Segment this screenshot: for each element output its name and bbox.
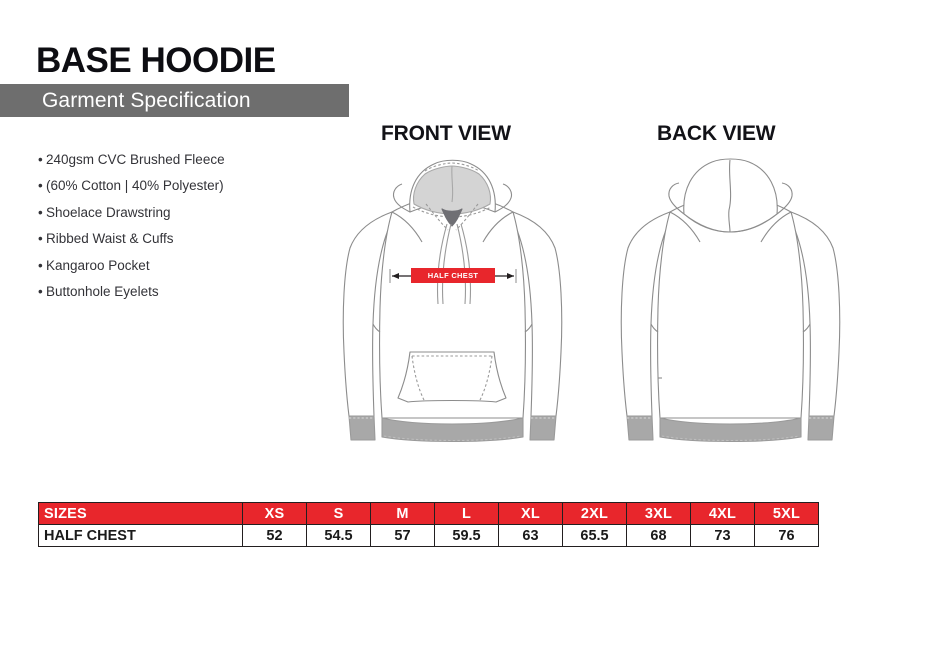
list-item: •240gsm CVC Brushed Fleece bbox=[38, 147, 338, 173]
column-header-sizes: SIZES bbox=[39, 503, 243, 525]
page-title: BASE HOODIE bbox=[36, 40, 276, 82]
feature-list: •240gsm CVC Brushed Fleece •(60% Cotton … bbox=[38, 147, 338, 305]
feature-text: Shoelace Drawstring bbox=[46, 205, 171, 220]
column-header-size: 5XL bbox=[755, 503, 819, 525]
bullet-icon: • bbox=[38, 279, 46, 305]
measurement-cell: 57 bbox=[371, 525, 435, 547]
measurement-cell: 54.5 bbox=[307, 525, 371, 547]
hoodie-front-illustration bbox=[330, 152, 575, 447]
hoodie-back-illustration bbox=[608, 152, 853, 447]
column-header-size: S bbox=[307, 503, 371, 525]
column-header-size: 4XL bbox=[691, 503, 755, 525]
column-header-size: M bbox=[371, 503, 435, 525]
feature-text: Buttonhole Eyelets bbox=[46, 284, 159, 299]
column-header-size: L bbox=[435, 503, 499, 525]
feature-text: (60% Cotton | 40% Polyester) bbox=[46, 178, 224, 193]
measurement-cell: 59.5 bbox=[435, 525, 499, 547]
half-chest-measurement-callout: HALF CHEST bbox=[388, 268, 518, 284]
bullet-icon: • bbox=[38, 253, 46, 279]
back-view-heading: BACK VIEW bbox=[657, 122, 775, 146]
feature-text: Kangaroo Pocket bbox=[46, 258, 150, 273]
feature-text: 240gsm CVC Brushed Fleece bbox=[46, 152, 225, 167]
garment-specification-banner: Garment Specification bbox=[0, 84, 349, 117]
half-chest-label: HALF CHEST bbox=[411, 268, 495, 283]
measurement-cell: 68 bbox=[627, 525, 691, 547]
bullet-icon: • bbox=[38, 147, 46, 173]
feature-text: Ribbed Waist & Cuffs bbox=[46, 231, 174, 246]
list-item: •Buttonhole Eyelets bbox=[38, 279, 338, 305]
table-header-row: SIZES XS S M L XL 2XL 3XL 4XL 5XL bbox=[39, 503, 819, 525]
row-label-half-chest: HALF CHEST bbox=[39, 525, 243, 547]
column-header-size: 3XL bbox=[627, 503, 691, 525]
list-item: •Shoelace Drawstring bbox=[38, 200, 338, 226]
size-chart-table: SIZES XS S M L XL 2XL 3XL 4XL 5XL HALF C… bbox=[38, 502, 819, 547]
measurement-cell: 73 bbox=[691, 525, 755, 547]
list-item: •(60% Cotton | 40% Polyester) bbox=[38, 173, 338, 199]
front-view-heading: FRONT VIEW bbox=[381, 122, 511, 146]
list-item: •Ribbed Waist & Cuffs bbox=[38, 226, 338, 252]
bullet-icon: • bbox=[38, 226, 46, 252]
list-item: •Kangaroo Pocket bbox=[38, 253, 338, 279]
column-header-size: XL bbox=[499, 503, 563, 525]
measurement-cell: 65.5 bbox=[563, 525, 627, 547]
measurement-cell: 63 bbox=[499, 525, 563, 547]
bullet-icon: • bbox=[38, 173, 46, 199]
measurement-cell: 76 bbox=[755, 525, 819, 547]
table-row: HALF CHEST 52 54.5 57 59.5 63 65.5 68 73… bbox=[39, 525, 819, 547]
garment-specification-label: Garment Specification bbox=[0, 89, 251, 113]
measurement-cell: 52 bbox=[243, 525, 307, 547]
bullet-icon: • bbox=[38, 200, 46, 226]
column-header-size: 2XL bbox=[563, 503, 627, 525]
column-header-size: XS bbox=[243, 503, 307, 525]
